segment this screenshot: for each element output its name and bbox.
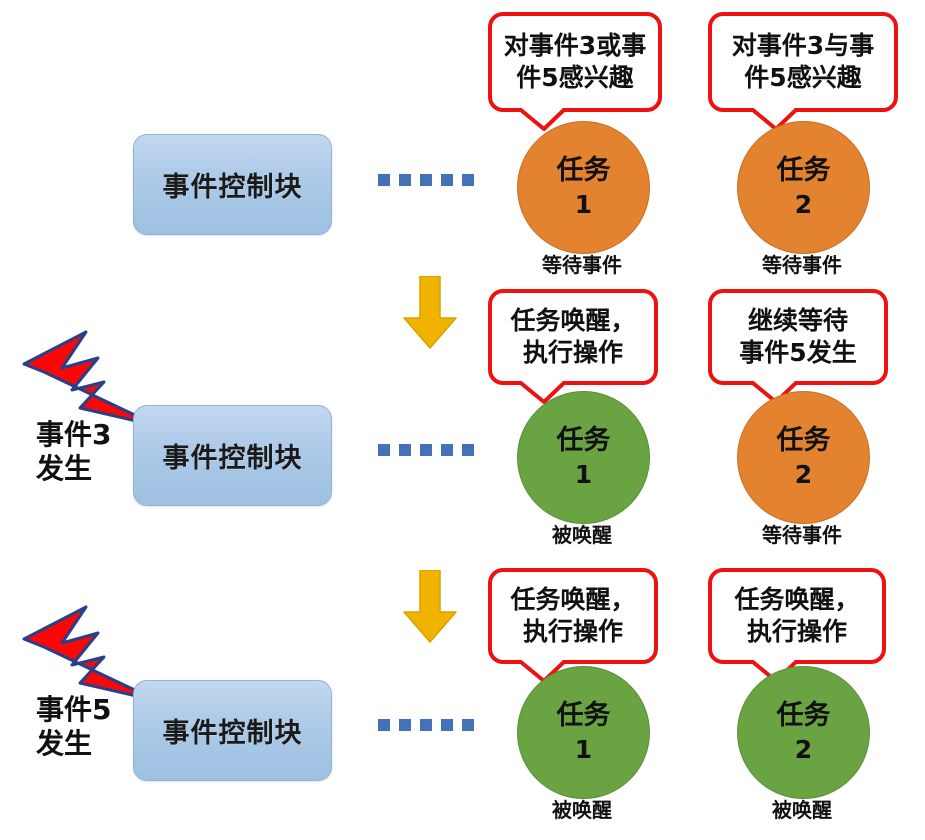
task-number: 1 (575, 737, 592, 763)
event-control-block-label: 事件控制块 (163, 711, 303, 750)
event-label-line: 事件5 (36, 693, 111, 727)
down-arrow-icon-2 (402, 570, 458, 644)
event-label-line: 发生 (36, 727, 111, 761)
task-number: 1 (575, 192, 592, 218)
bubble-line: 对事件3与事 (732, 30, 874, 63)
task-caption-row2-task1: 被唤醒 (502, 519, 662, 548)
speech-bubble-row1-task2: 对事件3与事 件5感兴趣 (708, 12, 898, 112)
task-name: 任务 (557, 157, 611, 185)
dotted-line-icon (462, 719, 474, 731)
dotted-line-icon (441, 174, 453, 186)
task-name: 任务 (557, 427, 611, 455)
down-arrow-icon-1 (402, 276, 458, 350)
task-caption-row3-task2: 被唤醒 (722, 794, 882, 823)
event-control-block-row2: 事件控制块 (133, 405, 332, 506)
dotted-line-icon (399, 174, 411, 186)
event-control-block-label: 事件控制块 (163, 436, 303, 475)
dotted-connector-row2 (378, 444, 474, 456)
speech-bubble-row3-task1: 任务唤醒， 执行操作 (488, 568, 658, 664)
bubble-line: 件5感兴趣 (516, 62, 633, 95)
event-control-block-row3: 事件控制块 (133, 680, 332, 781)
task-name: 任务 (777, 702, 831, 730)
speech-bubble-row1-task1: 对事件3或事 件5感兴趣 (488, 12, 662, 112)
event-label-line: 事件3 (36, 418, 111, 452)
task-circle-row3-task2: 任务 2 (737, 666, 870, 799)
dotted-line-icon (462, 444, 474, 456)
dotted-line-icon (420, 719, 432, 731)
dotted-line-icon (399, 444, 411, 456)
task-circle-row2-task2: 任务 2 (737, 391, 870, 524)
task-number: 1 (575, 462, 592, 488)
task-name: 任务 (777, 157, 831, 185)
dotted-line-icon (399, 719, 411, 731)
dotted-line-icon (378, 174, 390, 186)
task-circle-row3-task1: 任务 1 (517, 666, 650, 799)
event-label-row2: 事件3 发生 (36, 418, 111, 486)
bubble-line: 任务唤醒， (734, 584, 859, 617)
event-label-line: 发生 (36, 452, 111, 486)
speech-bubble-row2-task2: 继续等待 事件5发生 (708, 289, 888, 385)
event-label-row3: 事件5 发生 (36, 693, 111, 761)
event-control-block-row1: 事件控制块 (133, 134, 332, 235)
bubble-line: 事件5发生 (739, 337, 856, 370)
event-control-block-label: 事件控制块 (163, 165, 303, 204)
task-caption-row1-task2: 等待事件 (722, 249, 882, 278)
dotted-connector-row3 (378, 719, 474, 731)
dotted-line-icon (420, 174, 432, 186)
bubble-line: 执行操作 (747, 616, 847, 649)
bubble-line: 执行操作 (523, 616, 623, 649)
task-caption-row3-task1: 被唤醒 (502, 794, 662, 823)
dotted-line-icon (378, 444, 390, 456)
task-circle-row1-task1: 任务 1 (517, 121, 650, 254)
task-circle-row2-task1: 任务 1 (517, 391, 650, 524)
task-circle-row1-task2: 任务 2 (737, 121, 870, 254)
bubble-line: 任务唤醒， (510, 584, 635, 617)
dotted-line-icon (378, 719, 390, 731)
task-number: 2 (795, 192, 812, 218)
dotted-line-icon (462, 174, 474, 186)
dotted-line-icon (441, 444, 453, 456)
task-caption-row2-task2: 等待事件 (722, 519, 882, 548)
bubble-line: 任务唤醒， (510, 305, 635, 338)
bubble-line: 继续等待 (748, 305, 848, 338)
dotted-line-icon (441, 719, 453, 731)
task-name: 任务 (557, 702, 611, 730)
bubble-line: 件5感兴趣 (744, 62, 861, 95)
bubble-line: 执行操作 (523, 337, 623, 370)
speech-bubble-row2-task1: 任务唤醒， 执行操作 (488, 289, 658, 385)
task-number: 2 (795, 462, 812, 488)
diagram-canvas: 对事件3或事 件5感兴趣 对事件3与事 件5感兴趣 事件控制块 任务 1 等待事… (0, 0, 925, 840)
task-name: 任务 (777, 427, 831, 455)
speech-bubble-row3-task2: 任务唤醒， 执行操作 (708, 568, 886, 664)
dotted-line-icon (420, 444, 432, 456)
dotted-connector-row1 (378, 174, 474, 186)
task-caption-row1-task1: 等待事件 (502, 249, 662, 278)
bubble-line: 对事件3或事 (504, 30, 646, 63)
task-number: 2 (795, 737, 812, 763)
